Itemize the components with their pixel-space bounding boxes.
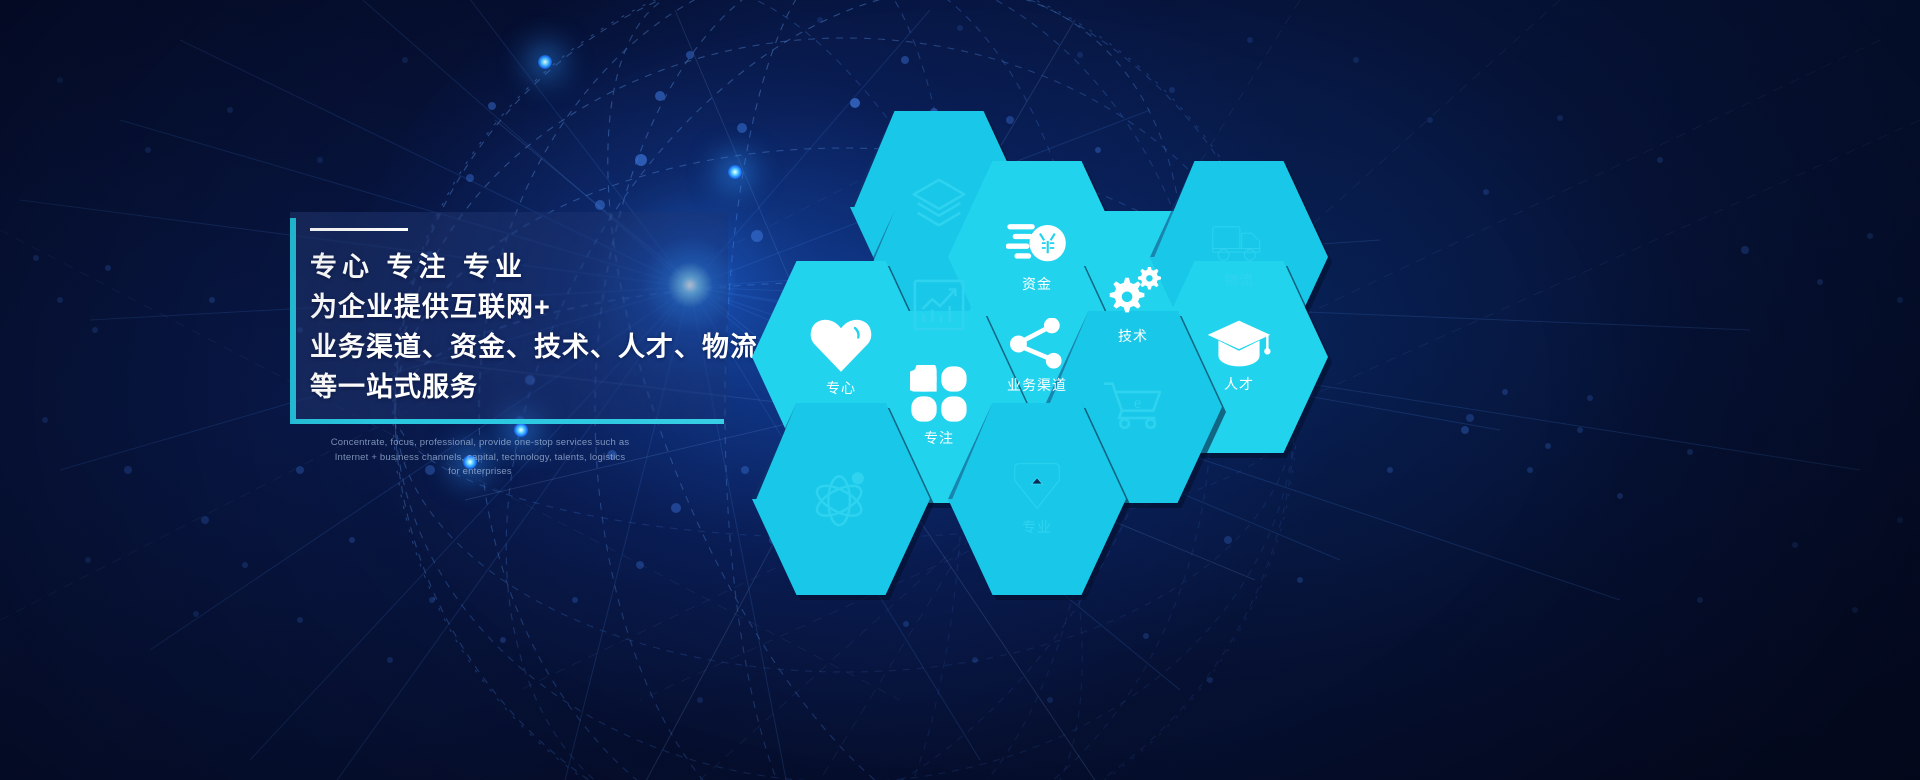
diamond-icon bbox=[1011, 460, 1063, 512]
chart-report-icon bbox=[911, 276, 967, 334]
hexagon-content: 人才 bbox=[1207, 319, 1271, 392]
hexagon-label: 资金 bbox=[1022, 276, 1052, 292]
truck-icon bbox=[1211, 223, 1267, 265]
hexagon-content: 资金 bbox=[1006, 219, 1068, 292]
gears-icon bbox=[1104, 267, 1162, 321]
hexagon-content: 技术 bbox=[1104, 267, 1162, 344]
atom-icon bbox=[810, 467, 872, 527]
hexagon-content bbox=[908, 174, 970, 236]
banner-stage: 专心 专注 专业 为企业提供互联网+ 业务渠道、资金、技术、人才、物流 等一站式… bbox=[0, 0, 1920, 780]
heart-icon bbox=[809, 315, 873, 373]
hexagon-content: 专注 bbox=[910, 365, 968, 446]
yuan-coin-icon bbox=[1006, 219, 1068, 269]
layers-icon bbox=[908, 174, 970, 236]
hexagon-content: e bbox=[1102, 379, 1164, 431]
hexagon-content: 专业 bbox=[1011, 460, 1063, 535]
hexagon-label: 专心 bbox=[826, 380, 856, 396]
hexagon-label: 物流 bbox=[1224, 272, 1254, 288]
graduation-cap-icon bbox=[1207, 319, 1271, 369]
hexagon-content bbox=[911, 276, 967, 334]
hexagon-label: 人才 bbox=[1224, 376, 1254, 392]
hexagon-label: 业务渠道 bbox=[1007, 377, 1067, 393]
hexagon-content: 专心 bbox=[809, 315, 873, 396]
hexagon-label: 专注 bbox=[924, 430, 954, 446]
hexagon-content: 业务渠道 bbox=[1007, 318, 1067, 393]
hexagon-content: 物流 bbox=[1211, 223, 1267, 288]
shopping-cart-e-icon: e bbox=[1102, 379, 1164, 431]
clover-icon bbox=[910, 365, 968, 423]
hexagon-content bbox=[810, 467, 872, 527]
hexagon-label: 技术 bbox=[1118, 328, 1148, 344]
hexagon-label: 专业 bbox=[1022, 519, 1052, 535]
svg-text:e: e bbox=[1134, 393, 1141, 412]
share-nodes-icon bbox=[1009, 318, 1065, 370]
